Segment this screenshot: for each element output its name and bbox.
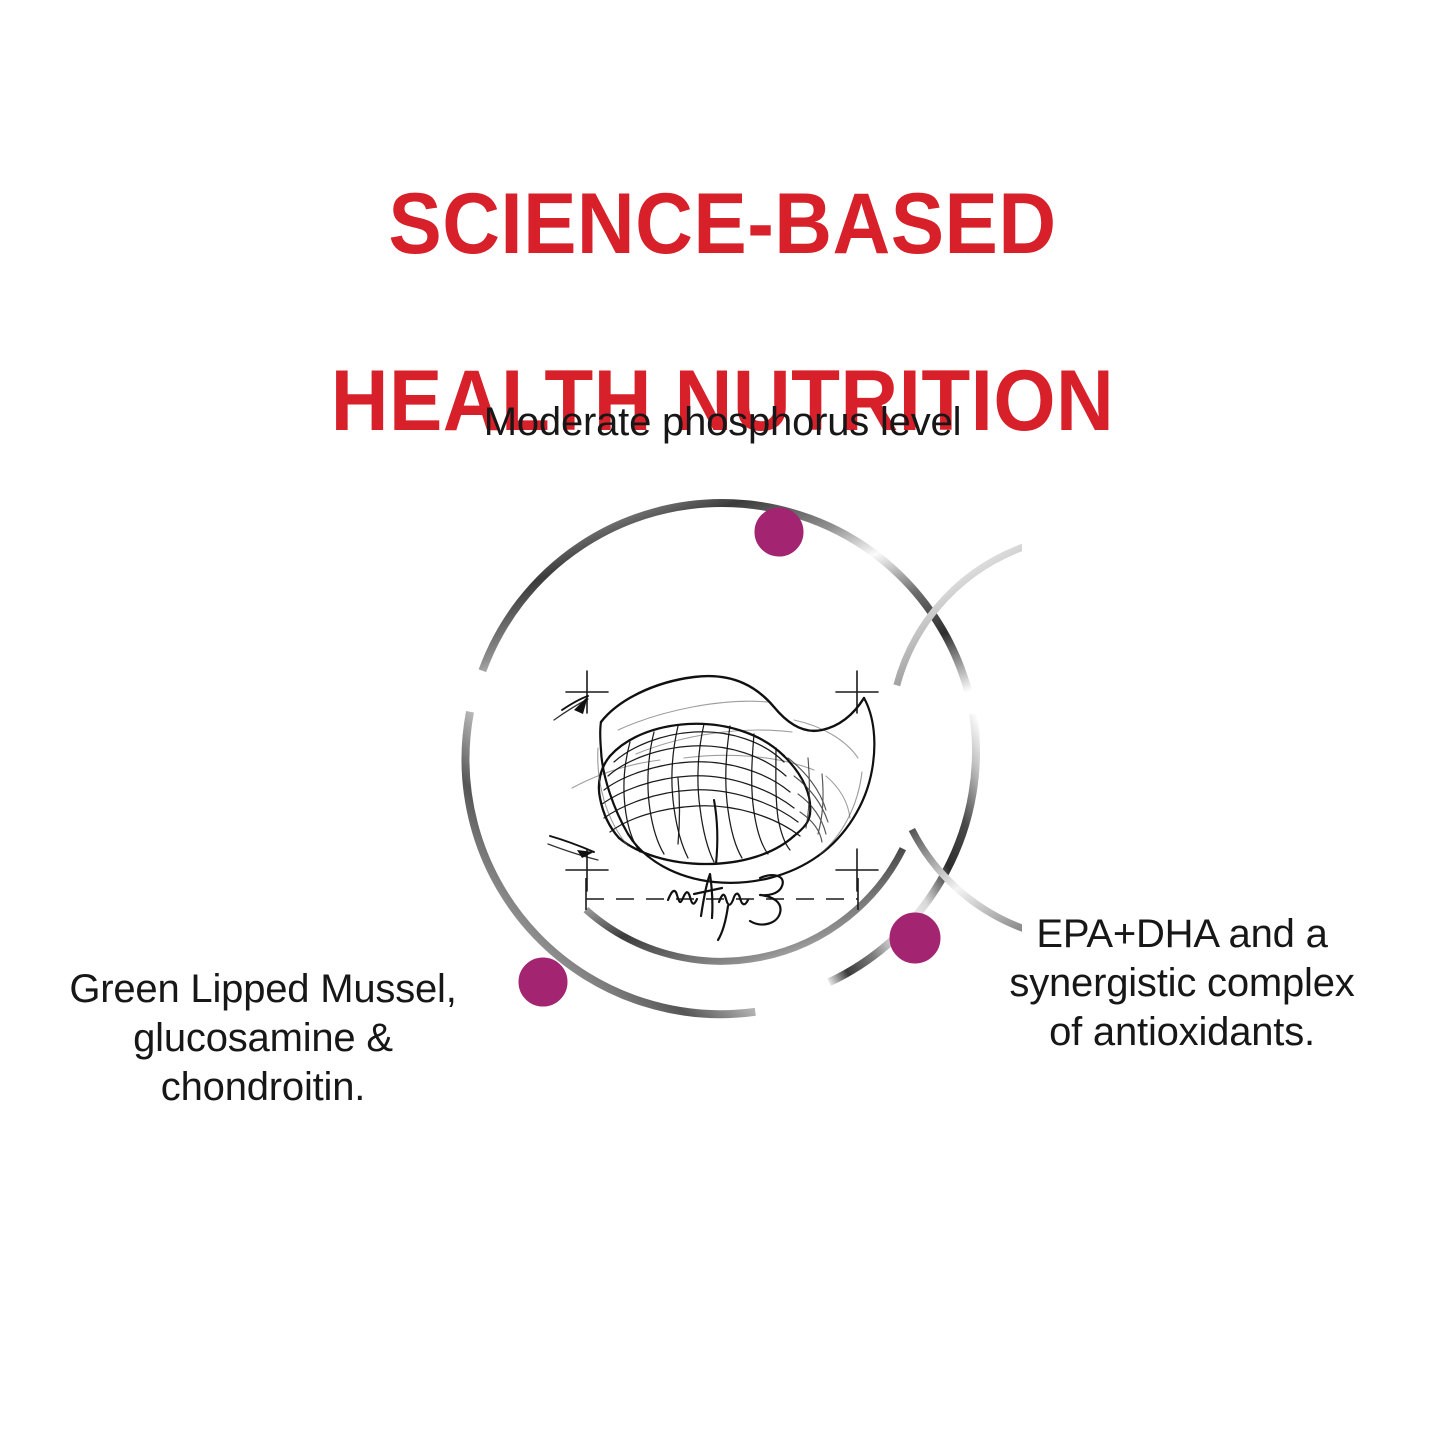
- infographic-canvas: SCIENCE-BASED HEALTH NUTRITION: [0, 0, 1445, 1445]
- dot-bottom-left: [519, 958, 567, 1006]
- callout-left-line-2: glucosamine &: [28, 1014, 498, 1063]
- callout-joint-support: Green Lipped Mussel, glucosamine & chond…: [28, 965, 498, 1111]
- marker-dots: [519, 508, 940, 1006]
- callout-top-line-1: Moderate phosphorus level: [0, 398, 1445, 447]
- callout-right-line-2: synergistic complex: [962, 959, 1402, 1008]
- callout-epa-dha-antioxidants: EPA+DHA and a synergistic complex of ant…: [962, 910, 1402, 1056]
- dot-top: [755, 508, 803, 556]
- callout-left-line-1: Green Lipped Mussel,: [28, 965, 498, 1014]
- kibble-technical-sketch: [422, 458, 1022, 1058]
- callout-left-line-3: chondroitin.: [28, 1063, 498, 1112]
- callout-right-line-1: EPA+DHA and a: [962, 910, 1402, 959]
- kibble-sketch: [548, 676, 874, 883]
- page-title-line-1: SCIENCE-BASED: [51, 180, 1395, 269]
- callout-moderate-phosphorus: Moderate phosphorus level: [0, 398, 1445, 447]
- dot-right: [890, 913, 940, 963]
- callout-right-line-3: of antioxidants.: [962, 1008, 1402, 1057]
- handwritten-annotation: [668, 874, 783, 940]
